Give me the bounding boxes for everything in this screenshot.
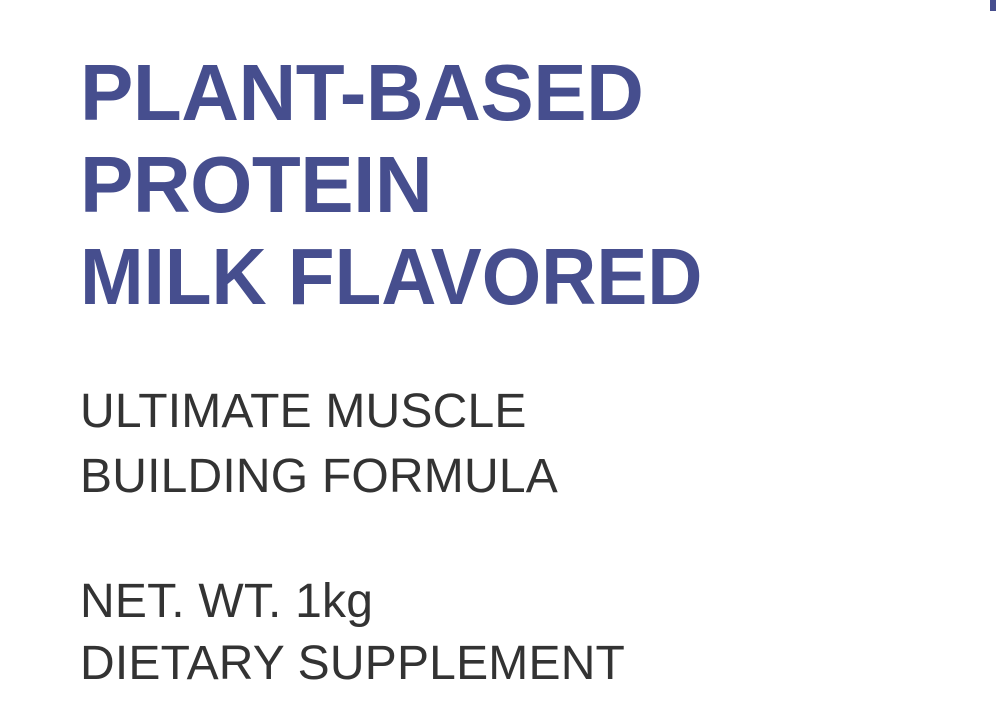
headline-line-2: PROTEIN — [80, 139, 940, 231]
crop-mark-icon — [990, 0, 996, 11]
headline-line-3: MILK FLAVORED — [80, 231, 901, 323]
product-label-artboard: PLANT-BASED PROTEIN MILK FLAVORED ULTIMA… — [0, 0, 1000, 722]
headline-line-1: PLANT-BASED — [80, 47, 940, 139]
net-weight-value: NET. WT. 1kg — [80, 571, 940, 633]
product-headline: PLANT-BASED PROTEIN MILK FLAVORED — [80, 47, 940, 323]
product-subtitle: ULTIMATE MUSCLE BUILDING FORMULA — [80, 379, 940, 509]
net-weight-block: NET. WT. 1kg DIETARY SUPPLEMENT — [80, 571, 940, 695]
dietary-supplement-label: DIETARY SUPPLEMENT — [80, 633, 940, 695]
subtitle-line-1: ULTIMATE MUSCLE — [80, 379, 940, 444]
subtitle-line-2: BUILDING FORMULA — [80, 444, 940, 509]
